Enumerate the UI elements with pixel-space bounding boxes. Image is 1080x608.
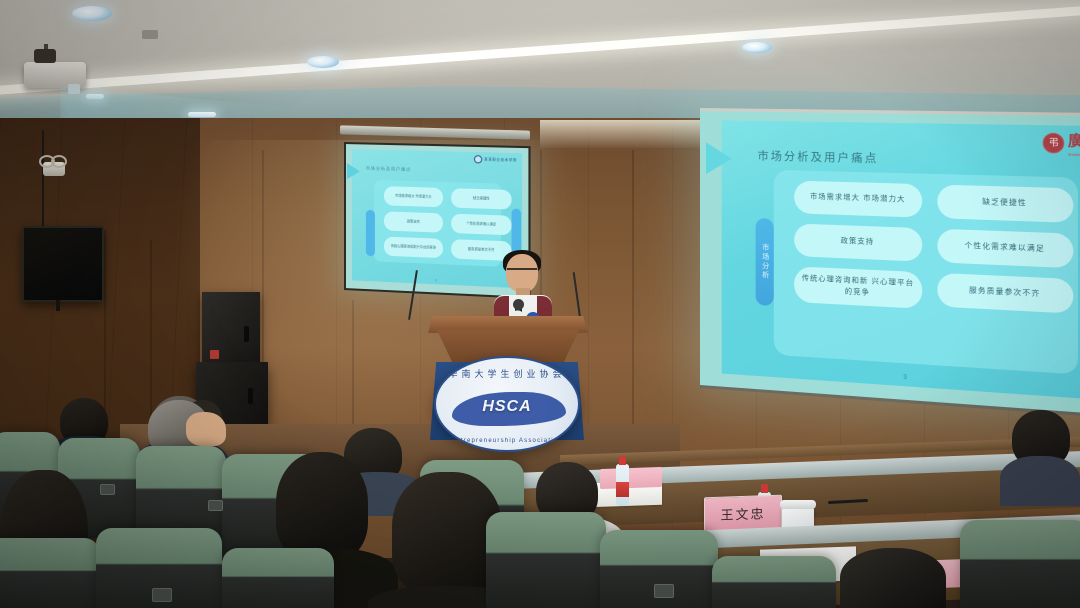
secondary-page-number: 3	[435, 278, 437, 282]
auditorium-photo: 某某职业技术学院 市场分析及用户痛点 市场需求增大 市场潜力大 政策支持 传统心…	[0, 0, 1080, 608]
auditorium-seat	[222, 548, 334, 608]
auditorium-seat	[0, 538, 100, 608]
emblem-bottom-text: Entrepreneurship Association	[436, 438, 578, 444]
ceiling-downlight-icon	[742, 42, 772, 53]
seat-number-plate	[208, 500, 223, 511]
slide-pill: 缺乏便捷性	[937, 185, 1073, 223]
school-logo-mark-icon	[474, 155, 482, 163]
secondary-pill: 政策支持	[384, 211, 443, 232]
slide-pill: 个性化需求难以满足	[937, 229, 1073, 269]
security-camera-icon	[43, 162, 65, 176]
auditorium-seat	[712, 556, 836, 608]
seat-number-plate	[100, 484, 115, 495]
bottle-label	[616, 482, 629, 497]
wall-mounted-tv-icon	[22, 226, 104, 302]
brand-logo-text: 廣 Guangzhou	[1068, 130, 1080, 158]
secondary-pill: 个性化需求难以满足	[451, 214, 511, 236]
eyeglasses-icon	[507, 268, 537, 275]
audience-head-foreground	[840, 548, 946, 608]
emblem-top-text: 华南大学生创业协会	[436, 367, 578, 380]
main-projection-screen: 弔 廣 Guangzhou 市场分析及用户痛点 市场分析 用户痛点 市场需求增大…	[700, 108, 1080, 418]
ceiling-downlight-icon	[72, 6, 112, 21]
secondary-pill: 市场需求增大 市场潜力大	[384, 186, 443, 207]
slide-pill: 传统心理咨询和新 兴心理平台的竞争	[794, 266, 922, 309]
seat-number-plate	[152, 588, 172, 602]
slide-page-number: 3	[903, 375, 907, 382]
speaker-port	[244, 326, 249, 342]
emblem-abbreviation: HSCA	[436, 398, 578, 416]
speaker-port	[248, 388, 253, 404]
secondary-arrow-icon	[347, 163, 360, 179]
brand-logo-char: 廣	[1068, 132, 1080, 150]
auditorium-seat	[960, 520, 1080, 608]
audience-head-foreground	[276, 452, 368, 562]
slide-brand-logo: 弔 廣 Guangzhou	[1043, 129, 1080, 157]
auditorium-seat	[486, 512, 606, 608]
audience-shoulder	[1000, 456, 1080, 506]
seat-number-plate	[654, 584, 674, 598]
secondary-slide-logo: 某某职业技术学院	[474, 155, 517, 164]
audience-raised-hand	[186, 412, 226, 446]
podium-emblem-icon: 华南大学生创业协会 HSCA Entrepreneurship Associat…	[434, 356, 580, 452]
ceiling-vent-icon	[142, 30, 158, 39]
speaker-badge	[210, 350, 219, 359]
wall-panel-seam	[632, 150, 634, 430]
slide-pill: 政策支持	[794, 223, 922, 261]
main-slide: 弔 廣 Guangzhou 市场分析及用户痛点 市场分析 用户痛点 市场需求增大…	[722, 120, 1080, 400]
camera-cable	[42, 130, 44, 230]
slide-right-column: 缺乏便捷性 个性化需求难以满足 服务质量参次不齐	[937, 185, 1073, 325]
secondary-slide-title: 市场分析及用户痛点	[366, 166, 411, 173]
secondary-left-tab	[366, 210, 375, 257]
ceiling-downlight-icon	[307, 56, 339, 68]
slide-left-category-tab: 市场分析	[756, 218, 774, 306]
secondary-left-column: 市场需求增大 市场潜力大 政策支持 传统心理咨询和新兴平台的竞争	[384, 186, 443, 264]
name-placard-secondary	[600, 467, 662, 489]
slide-left-column: 市场需求增大 市场潜力大 政策支持 传统心理咨询和新 兴心理平台的竞争	[794, 181, 922, 320]
slide-pill: 服务质量参次不齐	[937, 273, 1073, 314]
slide-pill: 市场需求增大 市场潜力大	[794, 181, 922, 218]
secondary-logo-text: 某某职业技术学院	[484, 157, 517, 163]
brand-logo-mark-icon: 弔	[1043, 133, 1065, 154]
ceiling-projector-icon	[24, 62, 86, 88]
tv-bracket	[56, 300, 60, 311]
brand-logo-subtext: Guangzhou	[1068, 151, 1080, 157]
slide-title: 市场分析及用户痛点	[758, 147, 879, 166]
water-bottle-icon	[616, 464, 629, 506]
secondary-pill: 传统心理咨询和新兴平台的竞争	[384, 237, 443, 259]
name-placard: 王文忠	[704, 495, 782, 532]
slide-title-arrow-icon	[706, 142, 732, 175]
secondary-pill: 缺乏便捷性	[451, 188, 511, 209]
wall-panel-seam	[150, 240, 152, 440]
loudspeaker-icon	[202, 292, 260, 362]
